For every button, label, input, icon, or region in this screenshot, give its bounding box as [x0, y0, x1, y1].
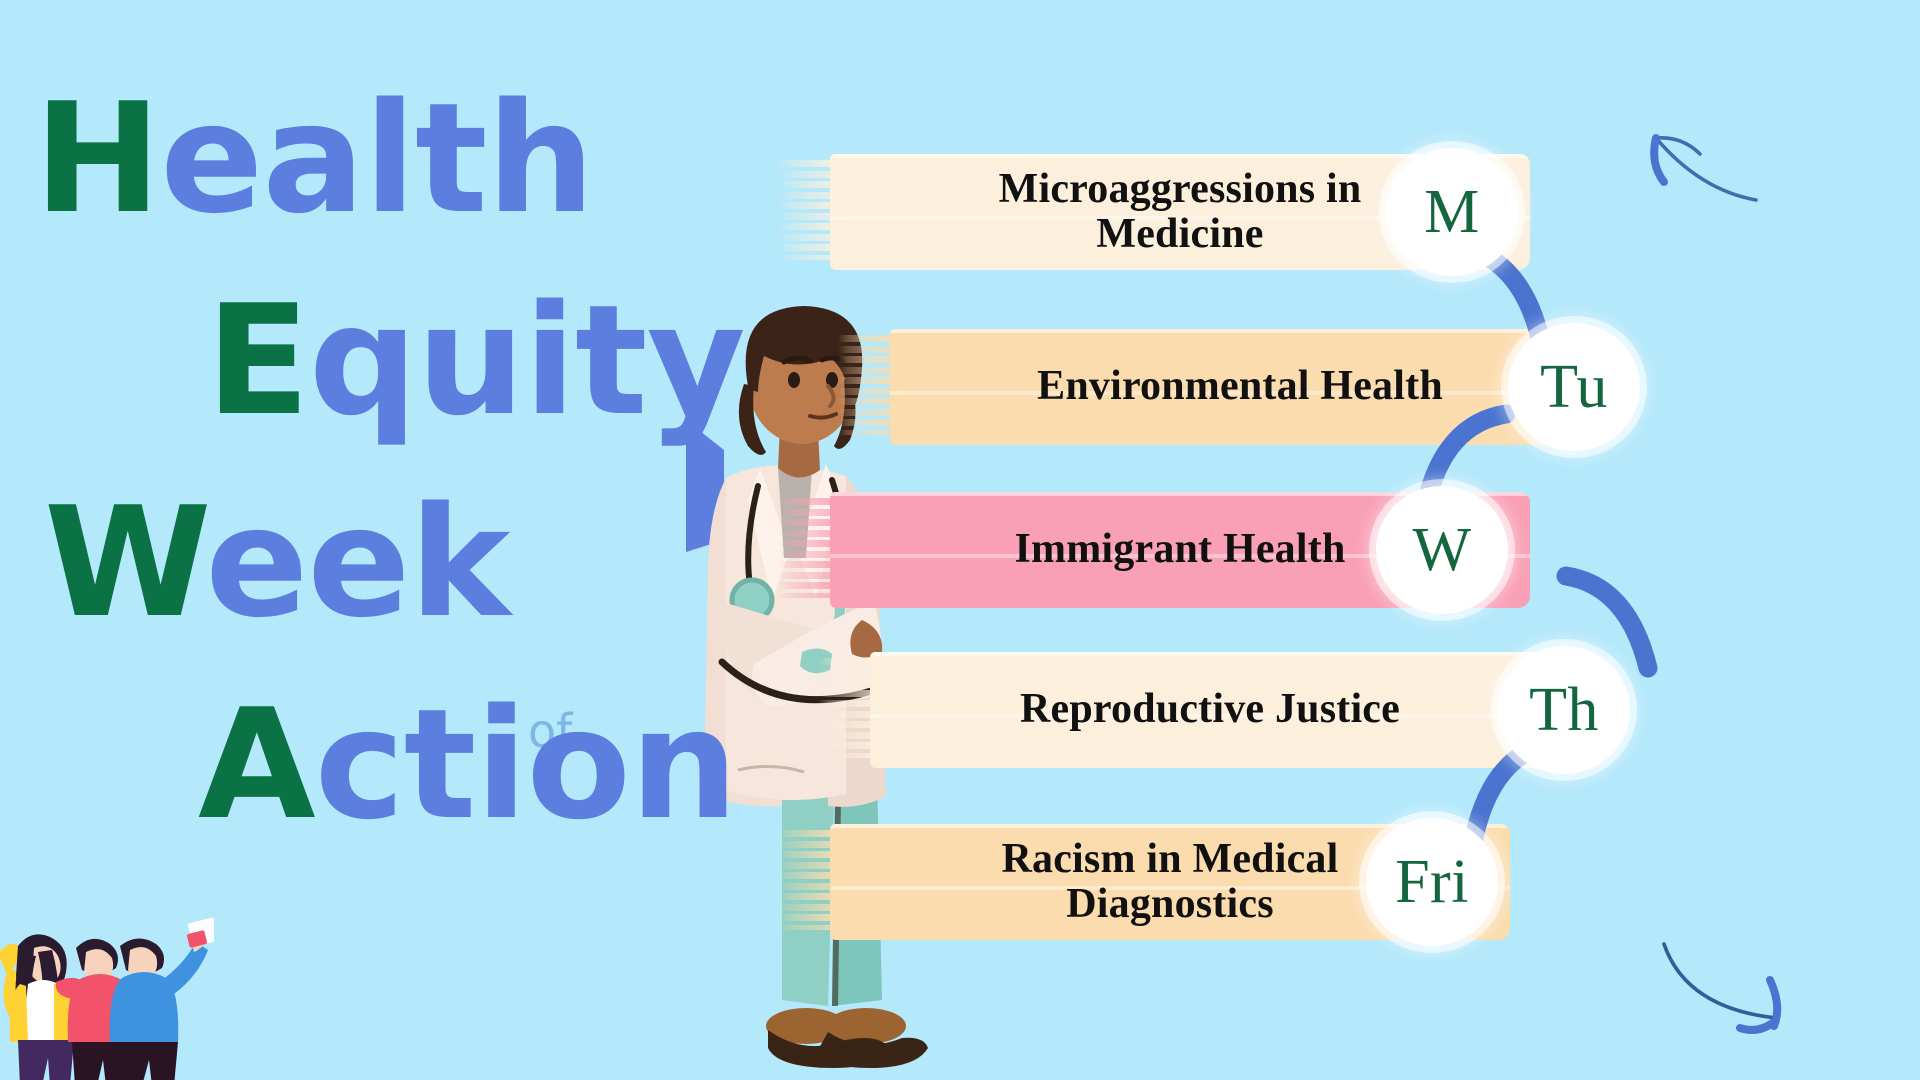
title-cap-e: E	[206, 272, 309, 449]
title-cap-a: A	[198, 676, 315, 853]
topic-label-3: Reproductive Justice	[910, 652, 1510, 768]
people-group-illustration	[0, 918, 214, 1080]
topic-line: Immigrant Health	[1015, 527, 1346, 572]
title-line-week: Week	[44, 492, 510, 633]
poster-title: Health Equity Week of Action	[28, 88, 788, 878]
title-line-action: Action	[198, 694, 737, 835]
day-label: Fri	[1395, 851, 1469, 913]
topic-line: Environmental Health	[1037, 364, 1443, 409]
title-rest-ction: ction	[315, 676, 738, 853]
weekly-schedule: Microaggressions in Medicine M Environme…	[980, 100, 1920, 1020]
topic-line: Microaggressions in	[999, 166, 1362, 212]
schedule-row[interactable]: Microaggressions in Medicine M	[980, 130, 1920, 302]
day-label: Th	[1529, 679, 1599, 741]
schedule-row[interactable]: Reproductive Justice Th	[980, 628, 1920, 800]
curved-arrow-up-left-icon	[1560, 78, 1770, 208]
day-bubble-monday[interactable]: M	[1386, 148, 1518, 276]
topic-label-1: Environmental Health	[930, 329, 1550, 445]
title-rest-eek: eek	[205, 474, 509, 651]
title-rest-ealth: ealth	[160, 70, 594, 247]
day-bubble-friday[interactable]: Fri	[1366, 818, 1498, 946]
schedule-row[interactable]: Immigrant Health W	[980, 468, 1920, 640]
curved-arrow-down-right-icon	[1650, 930, 1880, 1060]
topic-line: Diagnostics	[1066, 881, 1274, 927]
title-line-health: Health	[34, 88, 594, 229]
day-label: M	[1424, 181, 1480, 243]
title-line-equity: Equity	[206, 290, 745, 431]
day-bubble-tuesday[interactable]: Tu	[1508, 323, 1640, 451]
day-label: Tu	[1540, 356, 1608, 418]
day-bubble-wednesday[interactable]: W	[1376, 486, 1508, 614]
title-cap-w: W	[44, 474, 205, 651]
schedule-row[interactable]: Environmental Health Tu	[980, 305, 1920, 477]
poster-canvas: Health Equity Week of Action	[0, 0, 1920, 1080]
topic-line: Racism in Medical	[1001, 836, 1338, 882]
topic-line: Reproductive Justice	[1020, 687, 1400, 732]
day-bubble-thursday[interactable]: Th	[1498, 646, 1630, 774]
day-label: W	[1412, 519, 1471, 581]
title-rest-quity: quity	[309, 272, 745, 449]
title-cap-h: H	[34, 70, 160, 247]
topic-line: Medicine	[1096, 211, 1263, 257]
